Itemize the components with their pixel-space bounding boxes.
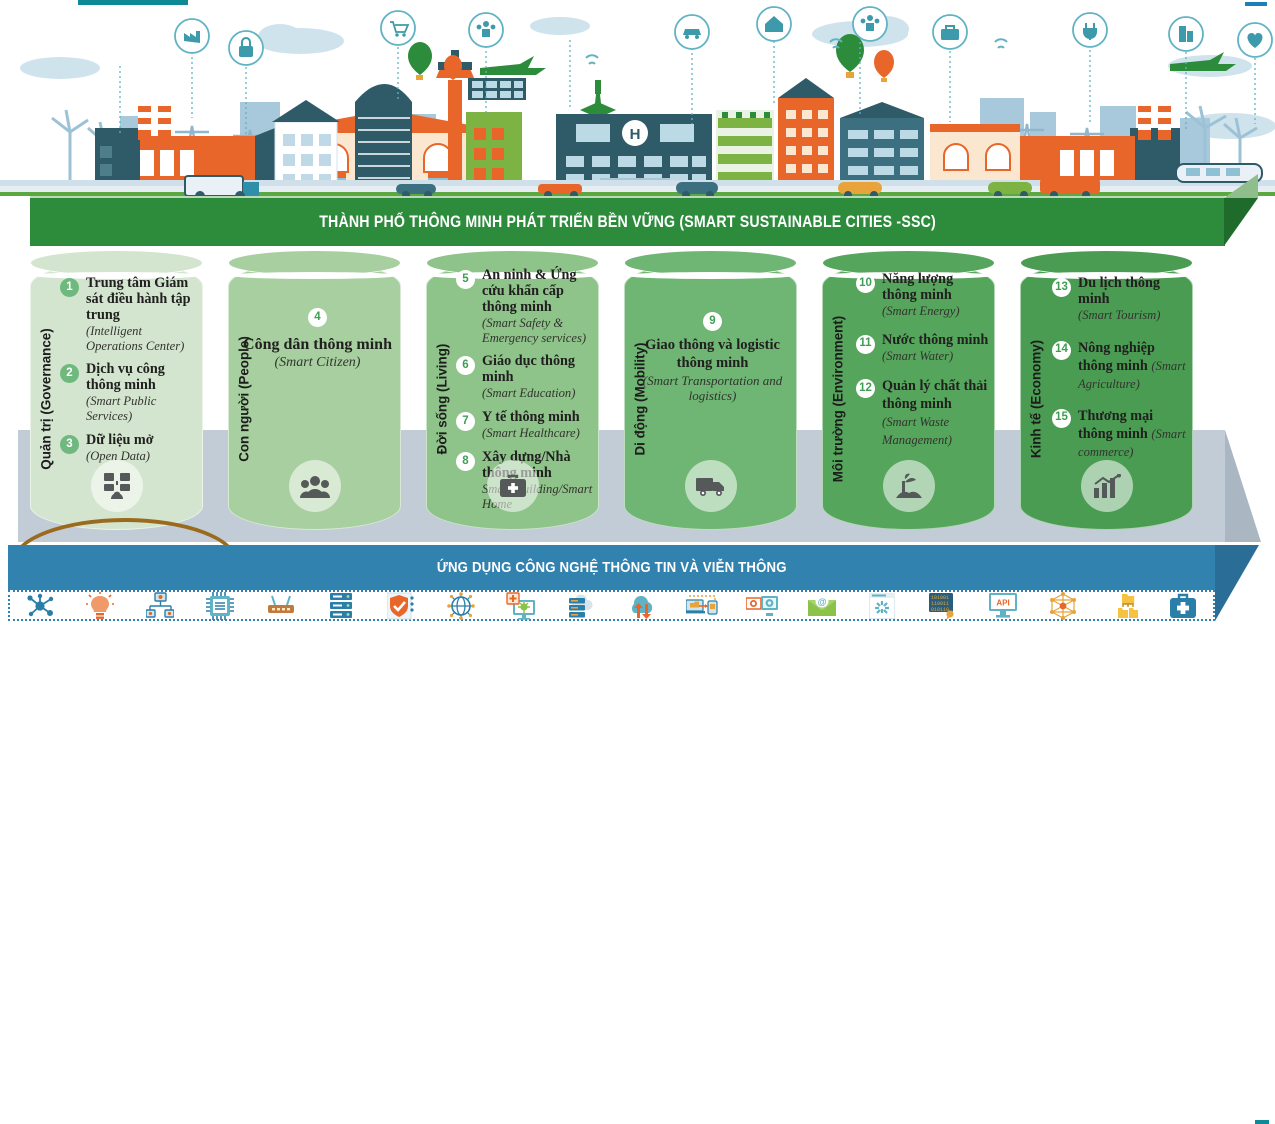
item-title-en: (Smart Tourism)	[1078, 308, 1187, 323]
telemedicine-monitor-icon	[501, 591, 541, 621]
delivery-truck-icon	[685, 460, 737, 512]
ict-title: ỨNG DỤNG CÔNG NGHỆ THÔNG TIN VÀ VIỄN THÔ…	[437, 559, 787, 576]
pillar-environment[interactable]: Môi trường (Environment) 10 Năng lượng t…	[822, 250, 995, 538]
server-rack-icon	[321, 591, 361, 621]
wifi-router-icon	[261, 591, 301, 621]
ict-icon-strip: @ 101001110011010110 API	[8, 590, 1215, 621]
org-chart-icon	[91, 460, 143, 512]
item-number-badge: 4	[308, 308, 327, 327]
banner-face: THÀNH PHỐ THÔNG MINH PHÁT TRIỂN BỀN VỮNG…	[30, 198, 1225, 246]
cloud-transfer-icon	[622, 591, 662, 621]
item-title-vi: Thương mại thông minh	[1078, 408, 1153, 442]
item-title-en: (Intelligent Operations Center)	[86, 324, 197, 354]
mesh-network-icon	[1043, 591, 1083, 621]
ict-face: ỨNG DỤNG CÔNG NGHỆ THÔNG TIN VÀ VIỄN THÔ…	[8, 545, 1215, 590]
microchip-icon	[200, 591, 240, 621]
pillar-rim-gap	[230, 272, 399, 279]
medical-bag-icon	[487, 460, 539, 512]
item-number-badge: 12	[856, 379, 875, 398]
people-group-icon	[289, 460, 341, 512]
network-topology-icon	[140, 591, 180, 621]
item-title-en: (Smart Public Services)	[86, 394, 197, 424]
item-title-vi: Quản lý chất thải thông minh	[882, 378, 987, 412]
item-title-en: (Smart Energy)	[882, 304, 989, 319]
browser-loading-icon	[862, 591, 902, 621]
item-title-vi: Du lịch thông minh	[1078, 276, 1187, 308]
pillar-axis-label-holder: Đời sống (Living)	[430, 280, 454, 518]
item-number-badge: 1	[60, 278, 79, 297]
pillar-item[interactable]: 6 Giáo dục thông minh (Smart Education)	[456, 354, 593, 401]
item-title-vi: Nông nghiệp thông minh	[1078, 340, 1155, 374]
pillar-axis-label-holder: Quản trị (Governance)	[34, 280, 58, 518]
ai-brain-bulb-icon	[80, 591, 120, 621]
item-number-badge: 9	[703, 312, 722, 331]
pillar-item[interactable]: 2 Dịch vụ công thông minh (Smart Public …	[60, 362, 197, 424]
item-title-vi: Dữ liệu mở	[86, 433, 197, 449]
item-title-en: (Smart Education)	[482, 386, 593, 401]
ict-band: ỨNG DỤNG CÔNG NGHỆ THÔNG TIN VÀ VIỄN THÔ…	[0, 545, 1275, 621]
item-number-badge: 6	[456, 356, 475, 375]
api-screen-icon: API	[983, 591, 1023, 621]
pillar-item[interactable]: 1 Trung tâm Giám sát điều hành tập trung…	[60, 276, 197, 353]
pillar-item[interactable]: 9 Giao thông và logistic thông minh (Sma…	[634, 312, 791, 404]
item-number-badge: 13	[1052, 278, 1071, 297]
bar-chart-growth-icon	[1081, 460, 1133, 512]
network-node-icon	[20, 591, 60, 621]
file-transfer-devices-icon	[682, 591, 722, 621]
globe-iot-icon	[441, 591, 481, 621]
pillar-axis-label: Quản trị (Governance)	[39, 328, 54, 469]
item-title-vi: Nước thông minh	[882, 333, 989, 349]
pillar-item[interactable]: 13 Du lịch thông minh (Smart Tourism)	[1052, 276, 1187, 323]
item-number-badge: 15	[1052, 409, 1071, 428]
item-title-en: (Smart Waste Management)	[882, 415, 952, 447]
pillar-axis-label: Môi trường (Environment)	[831, 316, 846, 483]
item-title-mixed: Nông nghiệp thông minh (Smart Agricultur…	[1078, 339, 1187, 393]
pillar-item[interactable]: 11 Nước thông minh (Smart Water)	[856, 333, 989, 364]
item-number-badge: 14	[1052, 341, 1071, 360]
svg-text:010110: 010110	[931, 607, 949, 613]
item-title-vi: Trung tâm Giám sát điều hành tập trung	[86, 276, 197, 324]
eco-plant-factory-icon	[883, 460, 935, 512]
item-title-en: (Smart Transportation and logistics)	[634, 373, 791, 404]
pillar-item[interactable]: 3 Dữ liệu mở (Open Data)	[60, 433, 197, 464]
pillar-axis-label: Đời sống (Living)	[435, 344, 450, 455]
pillar-axis-label-holder: Môi trường (Environment)	[826, 280, 850, 518]
item-title-vi: An ninh & Ứng cứu khẩn cấp thông minh	[482, 268, 593, 316]
svg-text:API: API	[996, 598, 1009, 607]
bottom-right-teal-marker	[1255, 1120, 1269, 1124]
smart-city-illustration: H	[0, 6, 1275, 196]
item-title-vi: Giáo dục thông minh	[482, 354, 593, 386]
pillar-economy[interactable]: Kinh tế (Economy) 13 Du lịch thông minh …	[1020, 250, 1193, 538]
item-title-en: (Smart Safety & Emergency services)	[482, 316, 593, 346]
pillar-rim-gap	[626, 272, 795, 279]
item-title-en: (Smart Healthcare)	[482, 426, 593, 441]
item-number-badge: 10	[856, 274, 875, 293]
item-title-vi: Giao thông và logistic thông minh	[634, 337, 791, 373]
item-number-badge: 2	[60, 364, 79, 383]
banner-side-bevel	[1224, 198, 1258, 246]
security-shield-icon	[381, 591, 421, 621]
pillar-item[interactable]: 15 Thương mại thông minh (Smart commerce…	[1052, 407, 1187, 461]
item-title-vi: Năng lượng thông minh	[882, 272, 989, 304]
email-envelope-icon: @	[802, 591, 842, 621]
pillar-item-list: 1 Trung tâm Giám sát điều hành tập trung…	[60, 276, 197, 473]
svg-text:H: H	[630, 126, 641, 143]
pillar-item[interactable]: 7 Y tế thông minh (Smart Healthcare)	[456, 410, 593, 441]
item-title-mixed: Thương mại thông minh (Smart commerce)	[1078, 407, 1187, 461]
pillar-axis-label-holder: Kinh tế (Economy)	[1024, 280, 1048, 518]
pillar-people[interactable]: Con người (People) 4 Công dân thông minh…	[228, 250, 401, 538]
item-number-badge: 8	[456, 452, 475, 471]
item-title-vi: Công dân thông minh	[242, 335, 393, 355]
item-number-badge: 11	[856, 335, 875, 354]
item-title-en: (Smart Water)	[882, 349, 989, 364]
item-title-en: (Open Data)	[86, 449, 197, 464]
pillar-axis-label: Kinh tế (Economy)	[1029, 340, 1044, 458]
pillar-item[interactable]: 4 Công dân thông minh (Smart Citizen)	[242, 308, 393, 372]
item-number-badge: 3	[60, 435, 79, 454]
item-title-vi: Dịch vụ công thông minh	[86, 362, 197, 394]
big-data-binary-icon: 101001110011010110	[922, 591, 962, 621]
medical-kit-icon	[1163, 591, 1203, 621]
ict-side-bevel	[1215, 545, 1259, 621]
item-title-mixed: Quản lý chất thải thông minh (Smart Wast…	[882, 377, 989, 449]
pillar-mobility[interactable]: Di động (Mobility) 9 Giao thông và logis…	[624, 250, 797, 538]
pillar-item[interactable]: 14 Nông nghiệp thông minh (Smart Agricul…	[1052, 339, 1187, 393]
infographic-root: H	[0, 0, 1275, 621]
item-number-badge: 5	[456, 270, 475, 289]
item-number-badge: 7	[456, 412, 475, 431]
pillars-row: Quản trị (Governance) 1 Trung tâm Giám s…	[0, 250, 1275, 540]
svg-text:@: @	[818, 597, 827, 607]
banner-title: THÀNH PHỐ THÔNG MINH PHÁT TRIỂN BỀN VỮNG…	[319, 213, 936, 232]
folder-tree-icon	[1103, 591, 1143, 621]
pillar-item[interactable]: 12 Quản lý chất thải thông minh (Smart W…	[856, 377, 989, 449]
pillar-living[interactable]: Đời sống (Living) 5 An ninh & Ứng cứu kh…	[426, 250, 599, 538]
pillar-item-list: 13 Du lịch thông minh (Smart Tourism) 14…	[1052, 276, 1187, 470]
pillar-item-list: 10 Năng lượng thông minh (Smart Energy) …	[856, 272, 989, 458]
pillar-governance[interactable]: Quản trị (Governance) 1 Trung tâm Giám s…	[30, 250, 203, 538]
device-sync-settings-icon	[742, 591, 782, 621]
item-title-en: (Smart Citizen)	[242, 355, 393, 372]
top-teal-marker	[78, 0, 188, 5]
banner-top-bevel	[1224, 174, 1258, 198]
pillar-item[interactable]: 10 Năng lượng thông minh (Smart Energy)	[856, 272, 989, 319]
item-title-vi: Y tế thông minh	[482, 410, 593, 426]
pillar-item[interactable]: 5 An ninh & Ứng cứu khẩn cấp thông minh …	[456, 268, 593, 345]
ssc-banner: THÀNH PHỐ THÔNG MINH PHÁT TRIỂN BỀN VỮNG…	[0, 196, 1275, 256]
cloud-server-icon	[561, 591, 601, 621]
